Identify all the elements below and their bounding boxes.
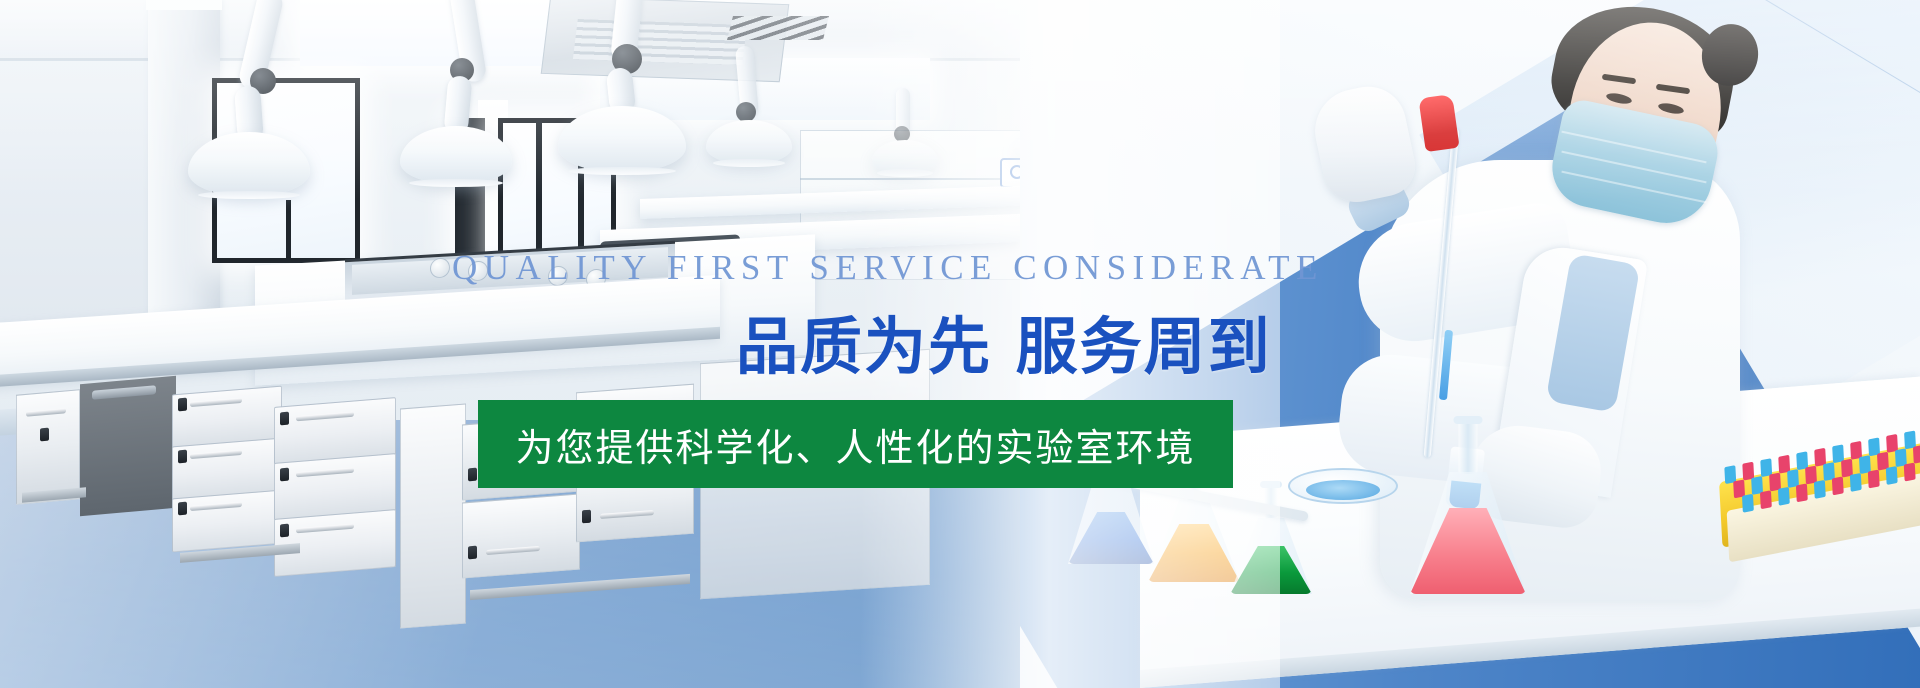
banner-subtitle: 为您提供科学化、人性化的实验室环境 — [515, 417, 1195, 472]
subtitle-green-bar: 为您提供科学化、人性化的实验室环境 — [478, 400, 1233, 488]
lab-hero-banner: QUALITY FIRST SERVICE CONSIDERATE 品质为先 服… — [0, 0, 1920, 688]
banner-text-layer: QUALITY FIRST SERVICE CONSIDERATE 品质为先 服… — [0, 0, 1920, 688]
banner-headline: 品质为先 服务周到 — [736, 296, 1272, 386]
english-tagline: QUALITY FIRST SERVICE CONSIDERATE — [452, 248, 1324, 288]
